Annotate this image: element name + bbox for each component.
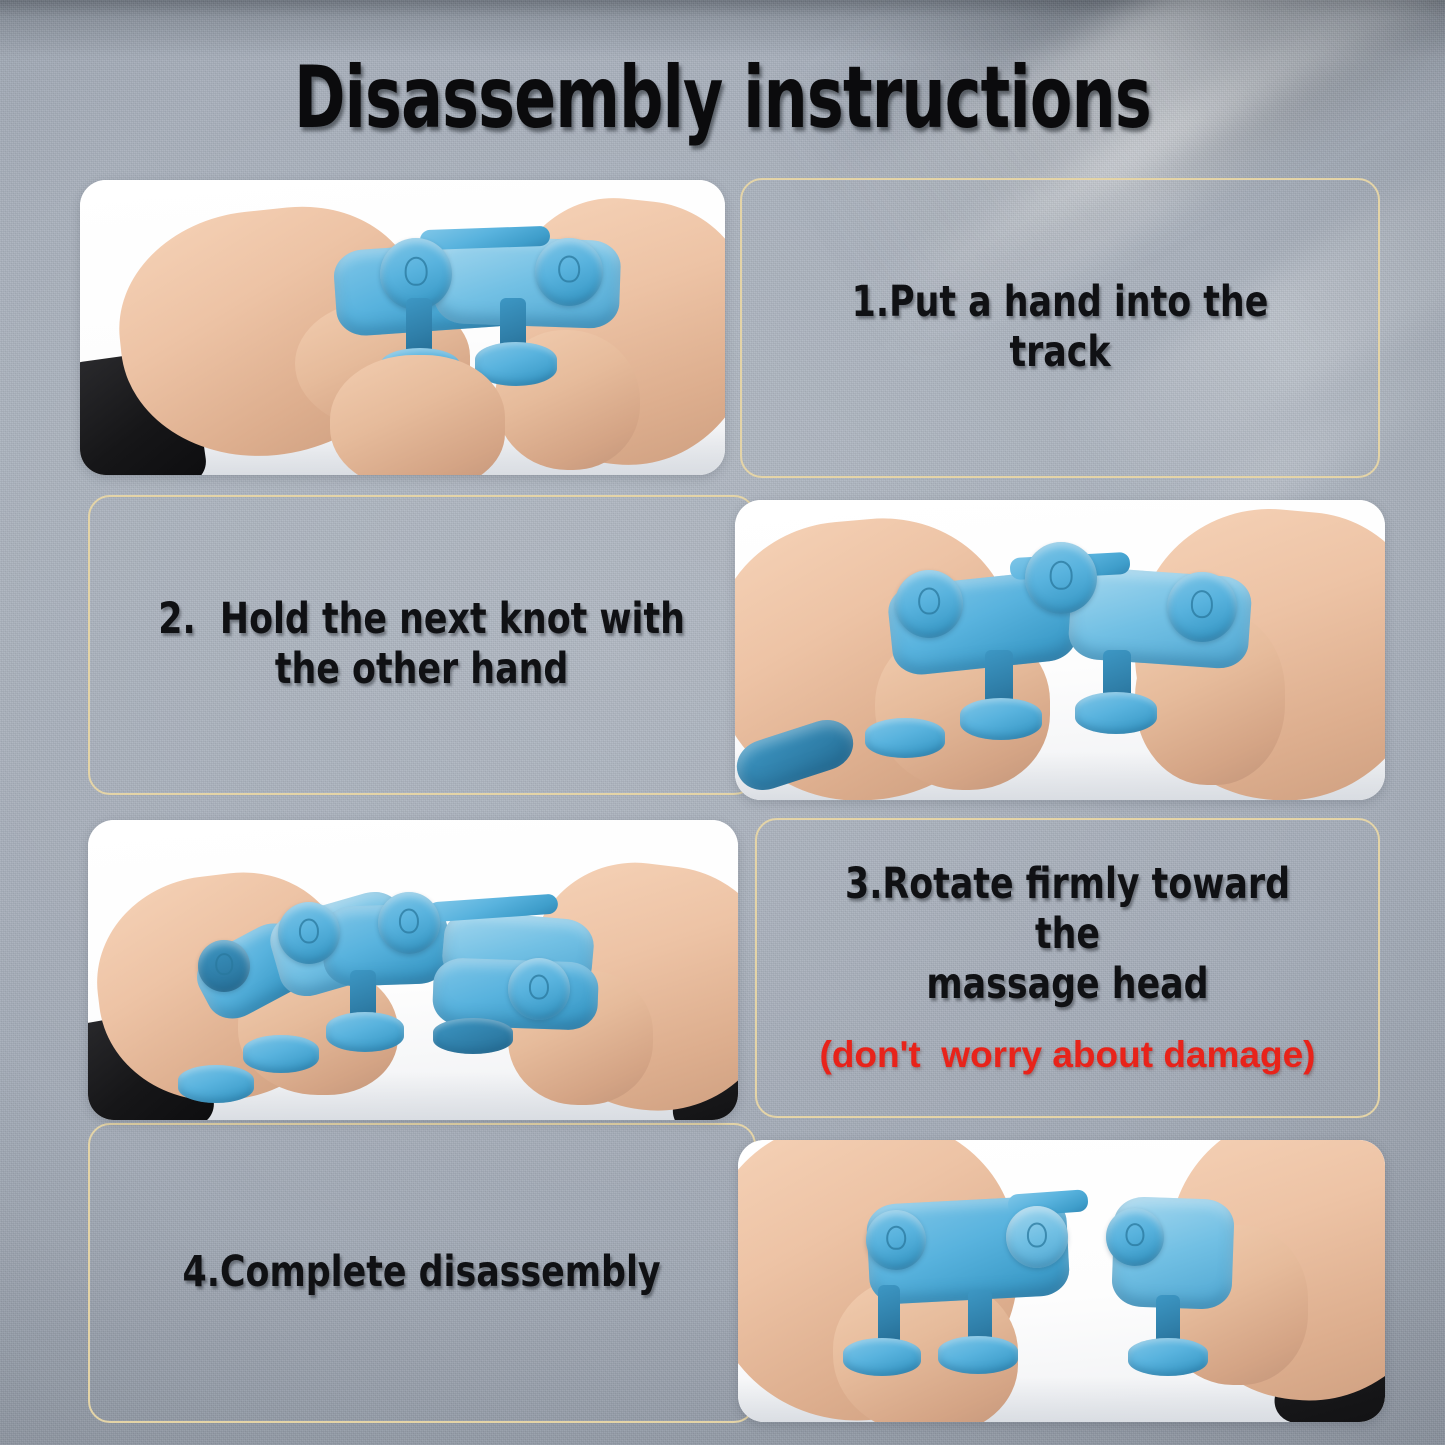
tool-knob-right — [535, 238, 603, 306]
massage-head-far-left — [178, 1065, 254, 1103]
tool-knob-far-left — [198, 940, 250, 992]
step-3-photo — [88, 820, 738, 1120]
tool-knob-mid — [378, 892, 440, 954]
massage-head-mid — [326, 1012, 404, 1052]
tool-knob-right — [508, 958, 570, 1020]
massage-head-center — [960, 698, 1042, 740]
massage-head-left — [865, 718, 945, 758]
massage-head-left — [243, 1035, 319, 1073]
tool-knob-left — [866, 1210, 926, 1270]
step-3-warning-note: (don't worry about damage) — [820, 1035, 1316, 1076]
massage-head-left-b — [938, 1336, 1018, 1374]
page-title: Disassembly instructions — [145, 48, 1301, 148]
tool-knob-center — [1025, 542, 1097, 614]
step-3-text-panel: 3.Rotate firmly toward the massage head … — [755, 818, 1380, 1118]
step-2-photo — [735, 500, 1385, 800]
step-4-text-panel: 4.Complete disassembly — [88, 1123, 756, 1423]
step-4-photo — [738, 1140, 1385, 1422]
step-2-label: 2. Hold the next knot with the other han… — [159, 595, 686, 695]
tool-knob-right — [1167, 572, 1237, 642]
tool-knob-left — [895, 570, 963, 638]
massage-head-right — [433, 1018, 513, 1054]
step-1-text-panel: 1.Put a hand into the track — [740, 178, 1380, 478]
tool-knob-right — [1106, 1208, 1164, 1266]
step-4-label: 4.Complete disassembly — [183, 1248, 661, 1298]
tool-knob-left — [278, 902, 340, 964]
massage-head-left-a — [843, 1338, 921, 1376]
index-finger-front — [330, 355, 505, 475]
step-1-label: 1.Put a hand into the track — [797, 278, 1323, 378]
step-2-text-panel: 2. Hold the next knot with the other han… — [88, 495, 756, 795]
step-1-photo — [80, 180, 725, 475]
tool-knob-left-end — [1006, 1206, 1068, 1268]
massage-head-right — [1075, 692, 1157, 734]
massage-head-right — [1128, 1338, 1208, 1376]
step-3-label: 3.Rotate firmly toward the massage head — [811, 860, 1323, 1010]
